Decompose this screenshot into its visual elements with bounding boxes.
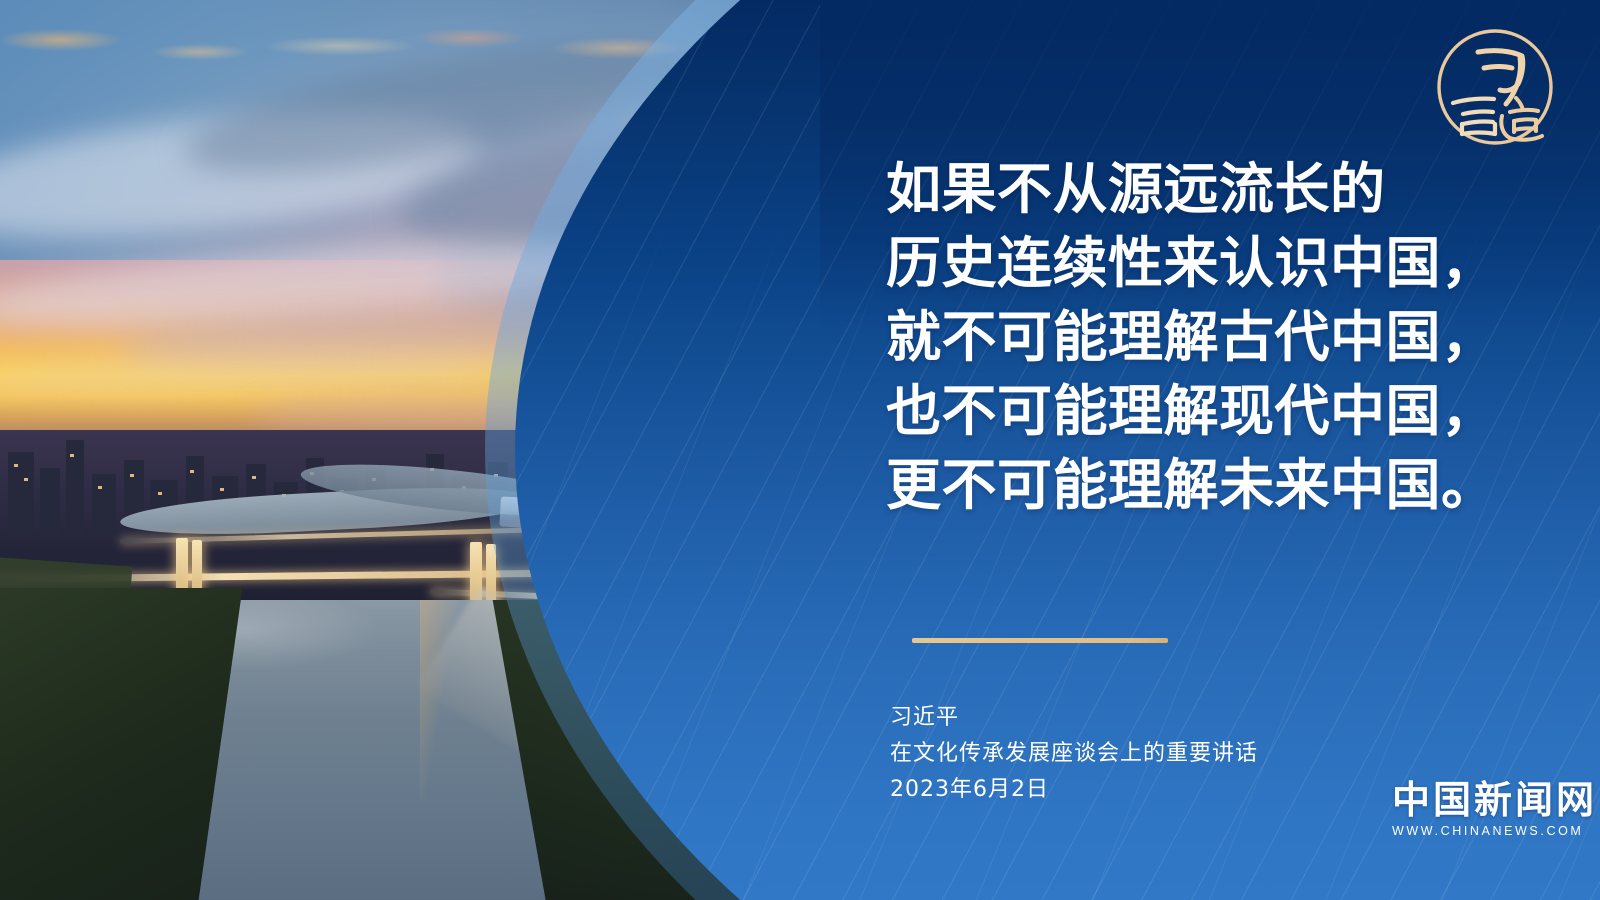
attribution-occasion: 在文化传承发展座谈会上的重要讲话 bbox=[890, 736, 1258, 772]
chinanews-name: 中国新闻网 bbox=[1392, 778, 1576, 822]
poster-root: 如果不从源远流长的 历史连续性来认识中国， 就不可能理解古代中国， 也不可能理解… bbox=[0, 0, 1600, 900]
quote-line-2: 历史连续性来认识中国， bbox=[886, 226, 1566, 300]
quote-line-5: 更不可能理解未来中国。 bbox=[886, 448, 1566, 522]
attribution-speaker: 习近平 bbox=[890, 700, 1258, 736]
quote-line-1: 如果不从源远流长的 bbox=[886, 152, 1566, 226]
xi-yan-dao-seal-icon bbox=[1432, 24, 1558, 150]
attribution-date: 2023年6月2日 bbox=[890, 772, 1258, 808]
attribution-block: 习近平 在文化传承发展座谈会上的重要讲话 2023年6月2日 bbox=[890, 700, 1258, 808]
quote-block: 如果不从源远流长的 历史连续性来认识中国， 就不可能理解古代中国， 也不可能理解… bbox=[886, 152, 1566, 522]
gold-divider bbox=[912, 638, 1168, 643]
chinanews-url: WWW.CHINANEWS.COM bbox=[1392, 822, 1576, 840]
chinanews-logo: 中国新闻网 WWW.CHINANEWS.COM bbox=[1392, 778, 1576, 840]
quote-line-4: 也不可能理解现代中国， bbox=[886, 374, 1566, 448]
quote-line-3: 就不可能理解古代中国， bbox=[886, 300, 1566, 374]
